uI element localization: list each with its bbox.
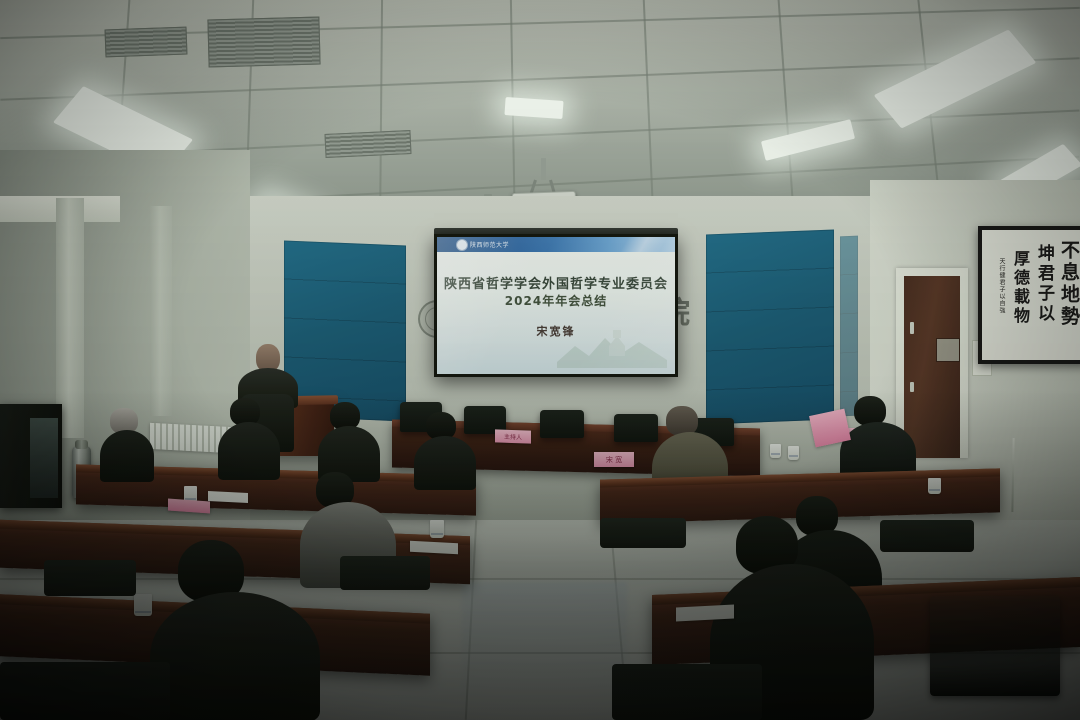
chair-back[interactable] (600, 518, 686, 548)
slide-subtitle: 2024年年会总结 (437, 292, 675, 309)
projected-slide: 陕西师范大学 陕西省哲学学会外国哲学专业委员会 2024年年会总结 宋宽锋 (437, 237, 675, 374)
chair-back[interactable] (612, 664, 762, 720)
slide-landscape-watermark (557, 316, 667, 368)
calligraphy-column-2: 坤君子以 (1034, 244, 1052, 324)
door-handle-icon[interactable] (910, 322, 914, 334)
paper-cup (770, 444, 781, 458)
paper-cup (134, 594, 152, 616)
calligraphy-signature: 天行健君子以自強 (997, 258, 1006, 314)
audience-shoulders (218, 422, 280, 480)
head-chair[interactable] (614, 414, 658, 442)
chair-back[interactable] (340, 556, 430, 590)
acoustic-panel-left (284, 240, 406, 421)
calligraphy-column-1: 不息地勢 (1058, 240, 1078, 328)
wall-column (150, 206, 172, 416)
ceiling-vent (207, 17, 320, 68)
wall-column (56, 198, 84, 438)
slide-logo-text: 陕西师范大学 (470, 240, 509, 249)
door-window (936, 338, 960, 362)
slide-title: 陕西省哲学学会外国哲学专业委员会 (437, 273, 675, 292)
audience-shoulders (414, 436, 476, 490)
conference-room-photo: 院 ity 不息地勢 坤君子以 厚德載物 天行健君子以自強 陕西师范大学 陕西省… (0, 0, 1080, 720)
calligraphy-column-3: 厚德載物 (1011, 250, 1028, 326)
document-paper (208, 491, 248, 503)
chair-back[interactable] (0, 662, 170, 720)
paper-cup (928, 478, 941, 494)
cabinet-glass-door (30, 418, 58, 498)
backpack (930, 596, 1060, 696)
ceiling-vent (324, 130, 411, 158)
name-placard: 主持人 (495, 429, 531, 443)
audience-shoulders (150, 592, 320, 720)
audience-shoulders (100, 430, 154, 482)
projector-mount-pole (541, 158, 546, 180)
ceiling-vent (105, 27, 188, 58)
chair-back[interactable] (880, 520, 974, 552)
calligraphy-artwork-frame: 不息地勢 坤君子以 厚德載物 天行健君子以自強 (978, 226, 1080, 364)
acoustic-panel-far-right (840, 236, 858, 417)
paper-cup (430, 520, 444, 538)
screen-reflection (462, 582, 627, 702)
door-handle-icon[interactable] (910, 382, 914, 392)
chair-back[interactable] (44, 560, 136, 596)
university-logo-icon (457, 240, 467, 250)
thermos-cap (75, 440, 88, 449)
paper-cup (788, 446, 799, 460)
slide-swoosh-decoration (605, 237, 675, 252)
acoustic-panel-right (706, 230, 834, 425)
head-chair[interactable] (540, 410, 584, 438)
meeting-room-door[interactable] (904, 276, 960, 458)
name-placard: 宋 宽 (594, 452, 634, 467)
